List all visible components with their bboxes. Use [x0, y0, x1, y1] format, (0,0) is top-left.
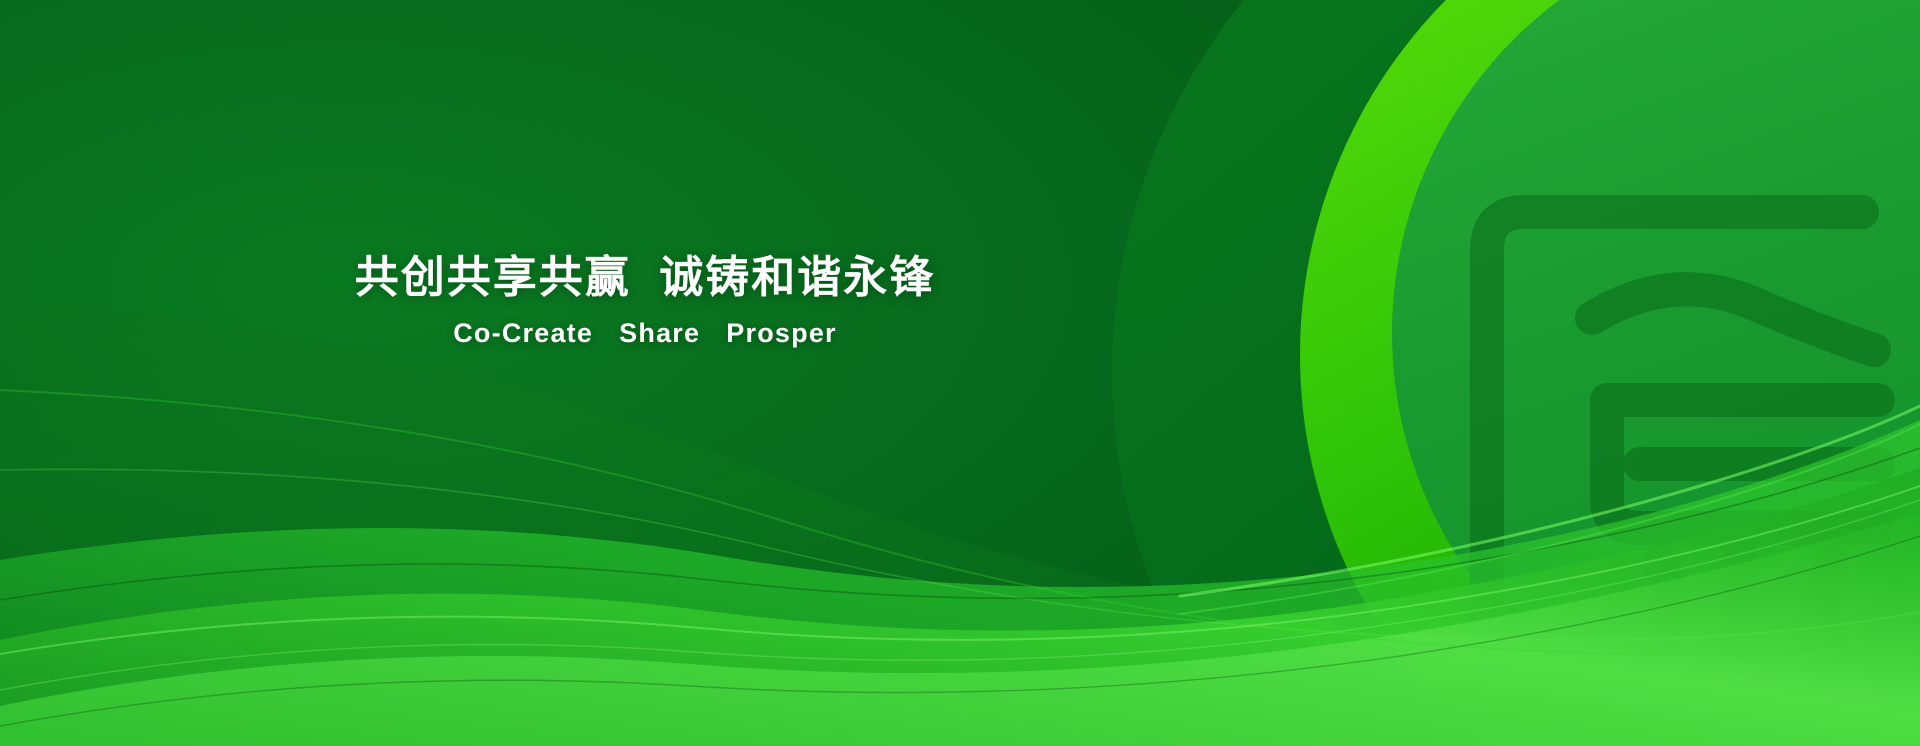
headline-chinese: 共创共享共赢 诚铸和谐永锋	[0, 252, 1290, 304]
banner-copy: 共创共享共赢 诚铸和谐永锋 Co-Create Share Prosper	[0, 252, 1290, 349]
promo-banner: 共创共享共赢 诚铸和谐永锋 Co-Create Share Prosper	[0, 0, 1920, 746]
headline-english: Co-Create Share Prosper	[0, 318, 1290, 349]
